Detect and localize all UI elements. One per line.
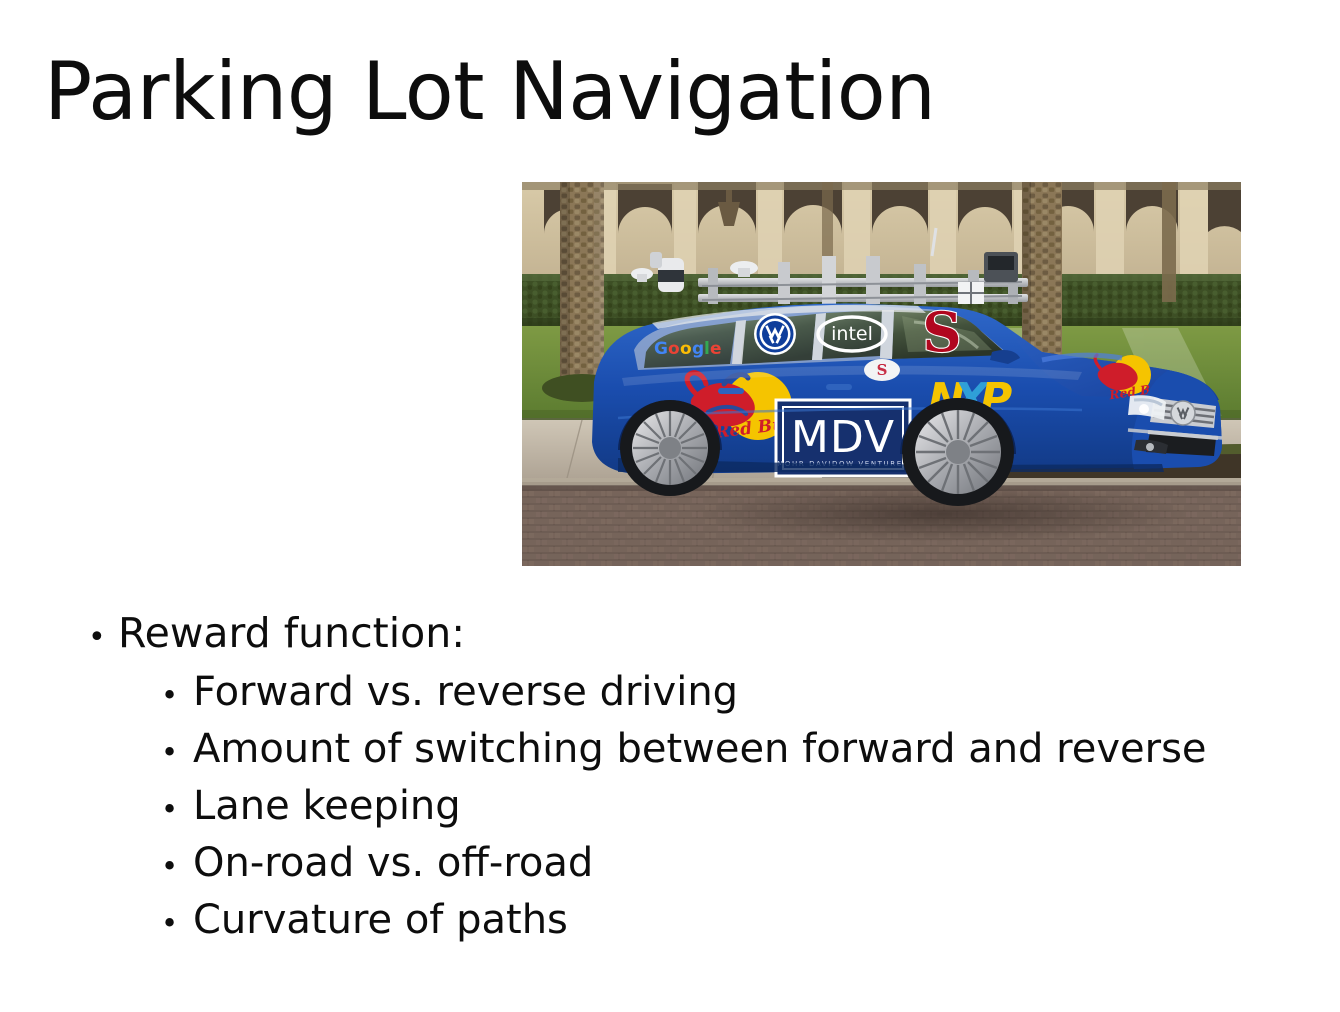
page-title: Parking Lot Navigation (44, 52, 1294, 132)
svg-text:g: g (692, 339, 704, 359)
svg-text:intel: intel (831, 323, 873, 345)
list-item-label: Reward function: (118, 608, 465, 660)
presentation-slide: Parking Lot Navigation (0, 0, 1340, 1012)
list-item: • Reward function: (70, 608, 1300, 660)
svg-text:o: o (680, 339, 692, 359)
list-item-label: Forward vs. reverse driving (193, 666, 738, 718)
list-item-label: Curvature of paths (193, 894, 568, 946)
list-item-label: Lane keeping (193, 780, 461, 832)
svg-text:S: S (923, 300, 962, 364)
list-item: • Forward vs. reverse driving (70, 666, 1300, 718)
svg-text:G: G (654, 339, 668, 359)
svg-text:MDV: MDV (791, 412, 895, 463)
bullet-marker-icon: • (88, 619, 118, 657)
bullet-marker-icon: • (161, 734, 193, 772)
list-item-label: On-road vs. off-road (193, 837, 593, 889)
stanford-junior-autonomous-car-photo: G o o g l e (522, 182, 1241, 566)
svg-text:e: e (710, 339, 722, 359)
bullet-list: • Reward function: • Forward vs. reverse… (70, 608, 1300, 951)
list-item: • Curvature of paths (70, 894, 1300, 946)
list-item: • Lane keeping (70, 780, 1300, 832)
bullet-marker-icon: • (161, 677, 193, 715)
list-item: • On-road vs. off-road (70, 837, 1300, 889)
list-item: • Amount of switching between forward an… (70, 723, 1300, 775)
list-item-label: Amount of switching between forward and … (193, 723, 1207, 775)
svg-text:o: o (668, 339, 680, 359)
bullet-marker-icon: • (161, 791, 193, 829)
bullet-marker-icon: • (161, 905, 193, 943)
bullet-marker-icon: • (161, 848, 193, 886)
svg-text:l: l (704, 339, 710, 359)
